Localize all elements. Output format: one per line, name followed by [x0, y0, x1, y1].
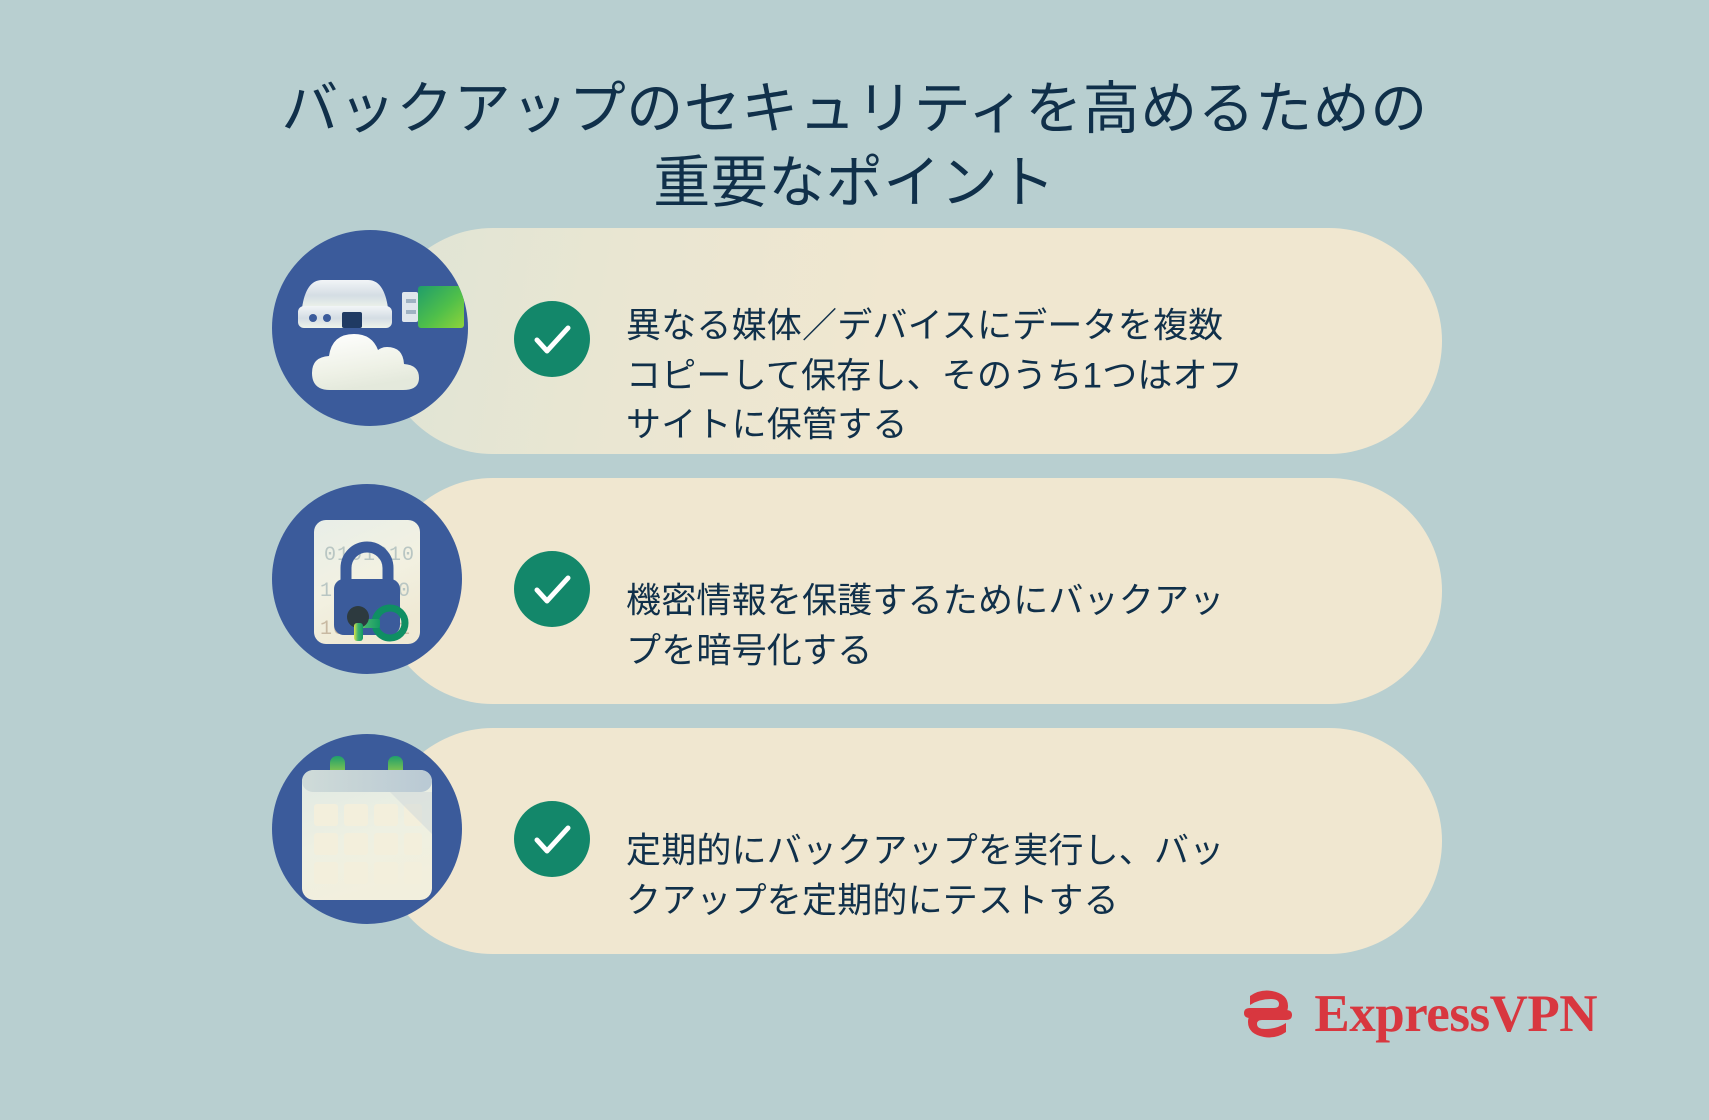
point-text-3: 定期的にバックアップを実行し、バッ クアップを定期的にテストする: [626, 826, 1286, 925]
list-item: 異なる媒体／デバイスにデータを複数 コピーして保存し、そのうち1つはオフ サイト…: [0, 228, 1709, 454]
check-icon: [514, 301, 590, 377]
point-text-1: 異なる媒体／デバイスにデータを複数 コピーして保存し、そのうち1つはオフ サイト…: [626, 301, 1286, 450]
page-title: バックアップのセキュリティを高めるための 重要なポイント: [0, 72, 1709, 220]
list-item: 0101010 1001010 1010101 機: [0, 478, 1709, 704]
server-usb-cloud-icon: [272, 230, 468, 426]
expressvpn-mark-icon: [1236, 982, 1300, 1046]
expressvpn-wordmark: ExpressVPN: [1314, 988, 1597, 1041]
calendar-icon: [272, 734, 462, 924]
point-text-2: 機密情報を保護するためにバックアッ プを暗号化する: [626, 576, 1286, 675]
check-icon: [514, 801, 590, 877]
infographic-canvas: バックアップのセキュリティを高めるための 重要なポイント: [0, 0, 1709, 1120]
check-icon: [514, 551, 590, 627]
lock-key-binary-icon: 0101010 1001010 1010101: [272, 484, 462, 674]
expressvpn-logo: ExpressVPN: [1236, 982, 1597, 1046]
points-list: 異なる媒体／デバイスにデータを複数 コピーして保存し、そのうち1つはオフ サイト…: [0, 228, 1709, 978]
list-item: 定期的にバックアップを実行し、バッ クアップを定期的にテストする: [0, 728, 1709, 954]
